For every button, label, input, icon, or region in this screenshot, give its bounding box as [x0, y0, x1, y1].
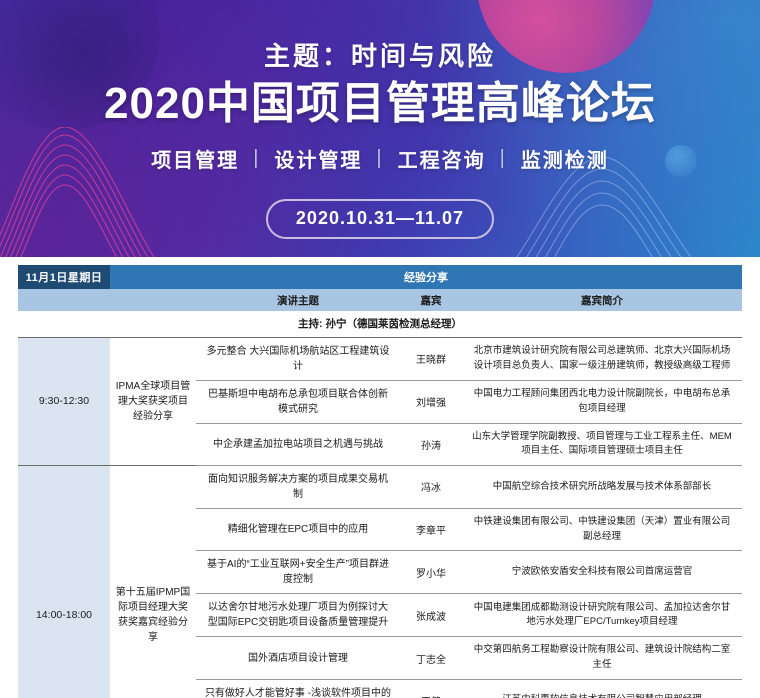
banner-tag-0: 项目管理	[151, 144, 239, 173]
block-time: 9:30-12:30	[18, 337, 110, 465]
row-bio: 北京市建筑设计研究院有限公司总建筑师、北京大兴国际机场设计项目总负责人、国家一级…	[462, 337, 742, 380]
banner-theme: 主题：时间与风险	[264, 36, 496, 73]
row-bio: 宁波欧依安盾安全科技有限公司首席运营官	[462, 551, 742, 594]
block-time: 14:00-18:00	[18, 465, 110, 698]
row-guest: 冯冰	[400, 465, 462, 508]
schedule-date-badge: 11月1日星期日	[18, 265, 110, 289]
column-header-session-blank	[110, 289, 196, 311]
row-guest: 李章平	[400, 508, 462, 550]
row-topic: 以达舍尔甘地污水处理厂项目为例探讨大型国际EPC交钥匙项目设备质量管理提升	[196, 594, 400, 637]
event-banner: 主题：时间与风险 2020中国项目管理高峰论坛 项目管理 | 设计管理 | 工程…	[0, 0, 760, 257]
row-bio: 中国电力工程顾问集团西北电力设计院副院长，中电胡布总承包项目经理	[462, 380, 742, 423]
banner-tag-2: 工程咨询	[398, 144, 486, 173]
banner-date-pill: 2020.10.31—11.07	[266, 199, 494, 239]
banner-tag-3: 监测检测	[521, 144, 609, 173]
row-bio: 中铁建设集团有限公司、中铁建设集团（天津）置业有限公司副总经理	[462, 508, 742, 550]
schedule-host-row: 主持: 孙宁（德国莱茵检测总经理）	[18, 311, 742, 337]
schedule-header-row: 11月1日星期日 经验分享	[18, 265, 742, 289]
banner-tag-1: 设计管理	[274, 144, 362, 173]
schedule-table-body: 11月1日星期日 经验分享 演讲主题 嘉宾 嘉宾简介 主持: 孙宁（德国莱茵检测…	[18, 265, 742, 698]
row-topic: 只有做好人才能管好事 -浅谈软件项目中的人员管理	[196, 679, 400, 698]
column-header-time-blank	[18, 289, 110, 311]
block-session: 第十五届IPMP国际项目经理大奖获奖嘉宾经验分享	[110, 465, 196, 698]
row-topic: 巴基斯坦中电胡布总承包项目联合体创新模式研究	[196, 380, 400, 423]
schedule-section: 11月1日星期日 经验分享 演讲主题 嘉宾 嘉宾简介 主持: 孙宁（德国莱茵检测…	[0, 257, 760, 698]
row-bio: 山东大学管理学院副教授、项目管理与工业工程系主任、MEM项目主任、国际项目管理硕…	[462, 423, 742, 465]
host-line: 主持: 孙宁（德国莱茵检测总经理）	[18, 311, 742, 337]
row-guest: 丁志全	[400, 637, 462, 679]
row-guest: 张成波	[400, 594, 462, 637]
banner-tag-separator-2: |	[500, 147, 507, 170]
banner-title: 2020中国项目管理高峰论坛	[104, 79, 656, 130]
schedule-table: 11月1日星期日 经验分享 演讲主题 嘉宾 嘉宾简介 主持: 孙宁（德国莱茵检测…	[18, 265, 742, 698]
row-bio: 江苏中科惠软信息技术有限公司智慧应用部经理	[462, 679, 742, 698]
row-topic: 多元整合 大兴国际机场航站区工程建筑设计	[196, 337, 400, 380]
schedule-section-title: 经验分享	[110, 265, 742, 289]
banner-tag-separator-0: |	[253, 147, 260, 170]
row-topic: 国外酒店项目设计管理	[196, 637, 400, 679]
row-topic: 精细化管理在EPC项目中的应用	[196, 508, 400, 550]
row-bio: 中国航空综合技术研究所战略发展与技术体系部部长	[462, 465, 742, 508]
block-session: IPMA全球项目管理大奖获奖项目经验分享	[110, 337, 196, 465]
column-header-topic: 演讲主题	[196, 289, 400, 311]
row-guest: 孙涛	[400, 423, 462, 465]
table-row: 9:30-12:30 IPMA全球项目管理大奖获奖项目经验分享 多元整合 大兴国…	[18, 337, 742, 380]
column-header-bio: 嘉宾简介	[462, 289, 742, 311]
row-bio: 中国电建集团成都勘测设计研究院有限公司、孟加拉达舍尔甘地污水处理厂EPC/Tur…	[462, 594, 742, 637]
table-row: 14:00-18:00 第十五届IPMP国际项目经理大奖获奖嘉宾经验分享 面向知…	[18, 465, 742, 508]
schedule-column-header-row: 演讲主题 嘉宾 嘉宾简介	[18, 289, 742, 311]
banner-tag-separator-1: |	[376, 147, 383, 170]
row-topic: 中企承建孟加拉电站项目之机遇与挑战	[196, 423, 400, 465]
row-topic: 面向知识服务解决方案的项目成果交易机制	[196, 465, 400, 508]
column-header-guest: 嘉宾	[400, 289, 462, 311]
row-bio: 中交第四航务工程勘察设计院有限公司、建筑设计院结构二室主任	[462, 637, 742, 679]
row-guest: 刘增强	[400, 380, 462, 423]
row-guest: 王晓群	[400, 337, 462, 380]
row-guest: 王健	[400, 679, 462, 698]
row-topic: 基于AI的“工业互联网+安全生产”项目群进度控制	[196, 551, 400, 594]
row-guest: 罗小华	[400, 551, 462, 594]
banner-tag-list: 项目管理 | 设计管理 | 工程咨询 | 监测检测	[151, 144, 609, 173]
